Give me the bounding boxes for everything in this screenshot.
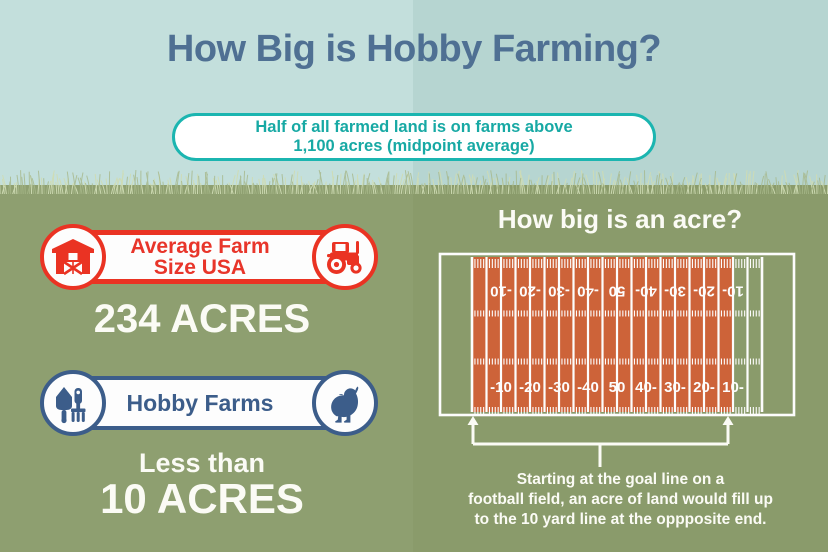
svg-text:30‑: 30‑	[664, 379, 686, 396]
callout-text: Half of all farmed land is on farms abov…	[255, 118, 572, 157]
grass-strip	[0, 168, 828, 194]
caption-line-3: to the 10 yard line at the oppposite end…	[475, 511, 767, 528]
badge-label-line-1: Hobby Farms	[127, 390, 274, 416]
page-title: How Big is Hobby Farming?	[0, 28, 828, 71]
tractor-icon	[312, 224, 378, 290]
svg-text:10‑: 10‑	[722, 379, 744, 396]
svg-text:10‑: 10‑	[722, 282, 744, 299]
badge-bar: Average Farm Size USA	[70, 230, 330, 284]
chicken-icon	[312, 370, 378, 436]
infographic-canvas: How Big is Hobby Farming? Half of all fa…	[0, 0, 828, 552]
stat-badge-hobby-farms: Hobby Farms	[22, 370, 382, 436]
svg-text:40‑: 40‑	[635, 379, 657, 396]
football-field-diagram: ‑10‑10‑20‑20‑30‑30‑40‑40505040‑40‑30‑30‑…	[438, 252, 796, 417]
badge-label: Hobby Farms	[127, 392, 274, 415]
barn-icon	[40, 224, 106, 290]
svg-text:20‑: 20‑	[693, 379, 715, 396]
callout-line-2: 1,100 acres (midpoint average)	[293, 137, 534, 155]
svg-text:‑30: ‑30	[548, 379, 570, 396]
badge-label: Average Farm Size USA	[130, 236, 269, 278]
stat-badge-average-farm-size: Average Farm Size USA	[22, 224, 382, 290]
svg-text:‑40: ‑40	[577, 379, 599, 396]
svg-text:‑20: ‑20	[519, 379, 541, 396]
callout-pill: Half of all farmed land is on farms abov…	[172, 113, 656, 161]
acre-panel-caption: Starting at the goal line on a football …	[428, 470, 813, 529]
svg-text:‑30: ‑30	[548, 282, 570, 299]
badge-label-line-1: Average Farm	[130, 235, 269, 258]
badge-bar: Hobby Farms	[70, 376, 330, 430]
callout-line-1: Half of all farmed land is on farms abov…	[255, 118, 572, 136]
acre-panel-heading: How big is an acre?	[430, 204, 810, 235]
svg-text:20‑: 20‑	[693, 282, 715, 299]
svg-text:50: 50	[609, 379, 626, 396]
garden-tools-icon	[40, 370, 106, 436]
svg-text:‑10: ‑10	[490, 282, 512, 299]
badge-label-line-2: Size USA	[154, 256, 246, 279]
average-farm-size-value: 234 ACRES	[0, 297, 404, 342]
caption-line-1: Starting at the goal line on a	[517, 471, 725, 488]
caption-line-2: football field, an acre of land would fi…	[468, 491, 773, 508]
svg-text:30‑: 30‑	[664, 282, 686, 299]
svg-text:‑40: ‑40	[577, 282, 599, 299]
svg-text:40‑: 40‑	[635, 282, 657, 299]
svg-text:‑10: ‑10	[490, 379, 512, 396]
svg-text:50: 50	[609, 282, 626, 299]
hobby-farms-value: 10 ACRES	[0, 475, 404, 523]
svg-text:‑20: ‑20	[519, 282, 541, 299]
span-measure-annotation	[438, 416, 796, 468]
